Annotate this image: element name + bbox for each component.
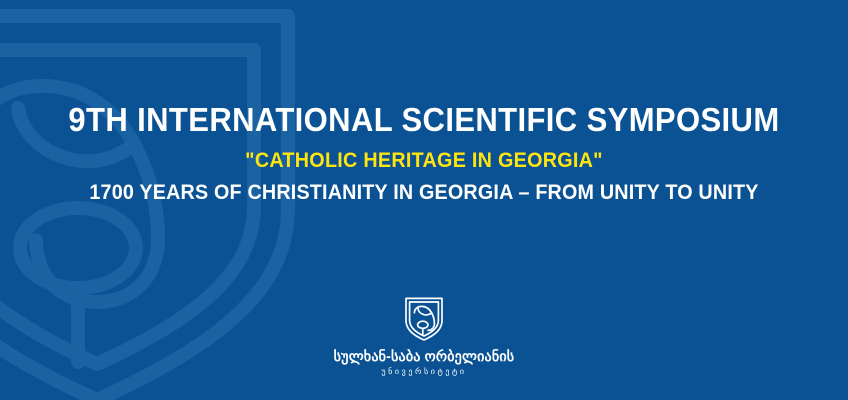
symposium-subtitle: "CATHOLIC HERITAGE IN GEORGIA" — [25, 148, 822, 174]
university-name-subtitle: უნივერსიტეტი — [381, 366, 466, 377]
symposium-banner: 9TH INTERNATIONAL SCIENTIFIC SYMPOSIUM "… — [0, 0, 848, 400]
page-title: 9TH INTERNATIONAL SCIENTIFIC SYMPOSIUM — [25, 100, 822, 140]
shield-dove-emblem — [404, 296, 444, 342]
university-name: სულხან-საბა ორბელიანის — [334, 348, 515, 364]
symposium-tagline: 1700 YEARS OF CHRISTIANITY IN GEORGIA – … — [25, 180, 822, 206]
university-logo-lockup: სულხან-საბა ორბელიანის უნივერსიტეტი — [0, 296, 848, 377]
